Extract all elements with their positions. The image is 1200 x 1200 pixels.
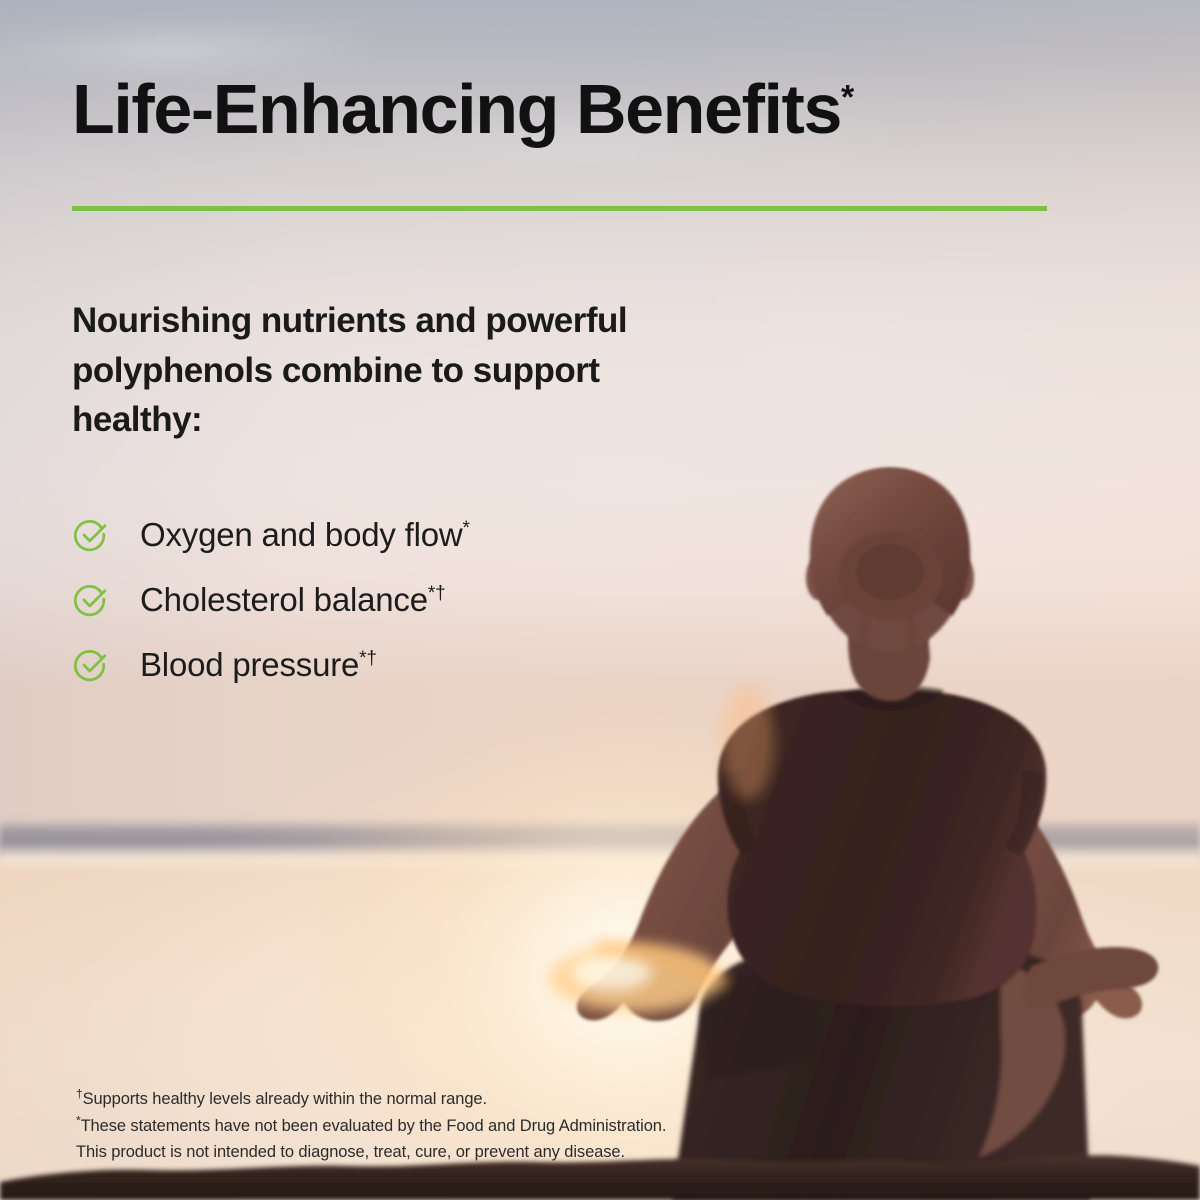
headline-superscript: *: [841, 79, 854, 117]
list-item: Cholesterol balance*†: [72, 567, 470, 632]
footnote-line: This product is not intended to diagnose…: [76, 1139, 666, 1166]
list-item: Blood pressure*†: [72, 632, 470, 697]
check-circle-icon: [72, 516, 110, 554]
headline-text: Life-Enhancing Benefits: [72, 70, 841, 148]
list-item-label: Blood pressure*†: [140, 646, 377, 684]
benefits-list: Oxygen and body flow* Cholesterol balanc…: [72, 502, 470, 697]
footnote-line: *These statements have not been evaluate…: [76, 1113, 666, 1140]
list-item: Oxygen and body flow*: [72, 502, 470, 567]
check-circle-icon: [72, 581, 110, 619]
footnotes: †Supports healthy levels already within …: [76, 1086, 666, 1166]
page-title: Life-Enhancing Benefits*: [72, 74, 854, 145]
footnote-line: †Supports healthy levels already within …: [76, 1086, 666, 1113]
green-divider: [72, 206, 1047, 211]
check-circle-icon: [72, 646, 110, 684]
benefits-poster: Life-Enhancing Benefits* Nourishing nutr…: [0, 0, 1200, 1200]
list-item-label: Oxygen and body flow*: [140, 516, 470, 554]
subheading: Nourishing nutrients and powerful polyph…: [72, 296, 712, 445]
list-item-label: Cholesterol balance*†: [140, 581, 445, 619]
